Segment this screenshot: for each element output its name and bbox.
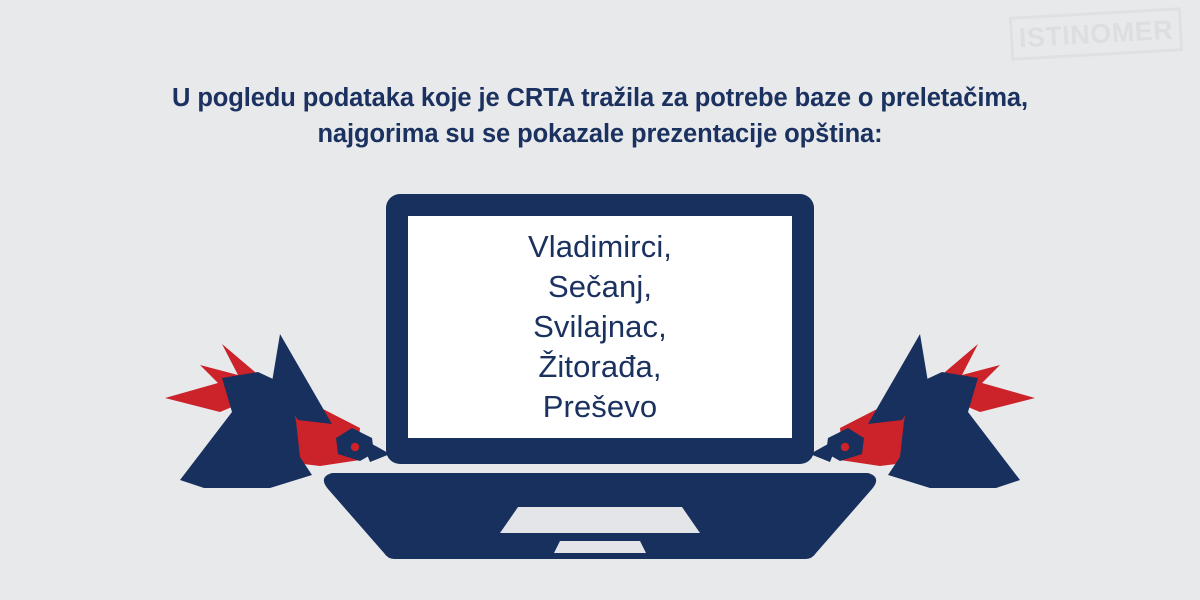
- laptop-base: [318, 471, 882, 564]
- municipality-list: Vladimirci, Sečanj, Svilajnac, Žitorađa,…: [528, 227, 672, 427]
- list-item: Sečanj,: [528, 267, 672, 307]
- trackpad-shape: [500, 507, 700, 533]
- list-item: Vladimirci,: [528, 227, 672, 267]
- list-item: Svilajnac,: [528, 307, 672, 347]
- infographic-canvas: ISTINOMER U pogledu podataka koje je CRT…: [0, 0, 1200, 600]
- laptop-screen-bezel: Vladimirci, Sečanj, Svilajnac, Žitorađa,…: [386, 194, 814, 464]
- laptop-screen-display: Vladimirci, Sečanj, Svilajnac, Žitorađa,…: [408, 216, 792, 438]
- laptop-illustration: Vladimirci, Sečanj, Svilajnac, Žitorađa,…: [0, 0, 1200, 600]
- list-item: Žitorađa,: [528, 347, 672, 387]
- hinge-notch-shape: [554, 541, 646, 553]
- list-item: Preševo: [528, 387, 672, 427]
